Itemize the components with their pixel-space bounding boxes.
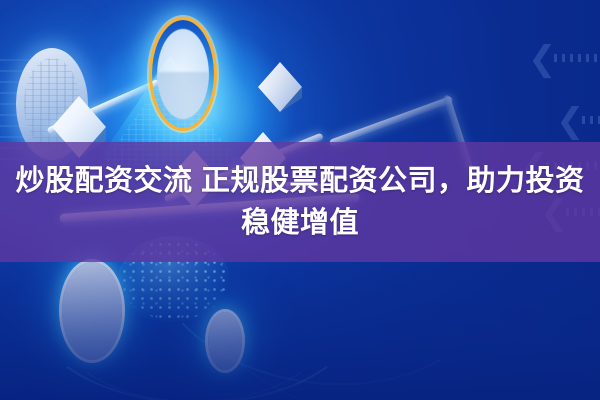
banner-caption: 炒股配资交流 正规股票配资公司，助力投资稳健增值 (0, 160, 600, 244)
chevron-left-icon: ❮ (528, 42, 557, 76)
chevron-glyph: ❮ (528, 39, 557, 79)
chevron-left-icon: ❮ (556, 104, 585, 138)
chevron-glyph: ❮ (556, 101, 585, 141)
chevron-trail-dots (554, 54, 600, 62)
chevron-trail-dots (582, 116, 600, 124)
caption-band: 炒股配资交流 正规股票配资公司，助力投资稳健增值 (0, 142, 600, 262)
banner-image: ❮ ❮ ❮ ❮ 炒股配资交流 正规股票配资公司，助力投资稳健增值 (0, 0, 600, 400)
